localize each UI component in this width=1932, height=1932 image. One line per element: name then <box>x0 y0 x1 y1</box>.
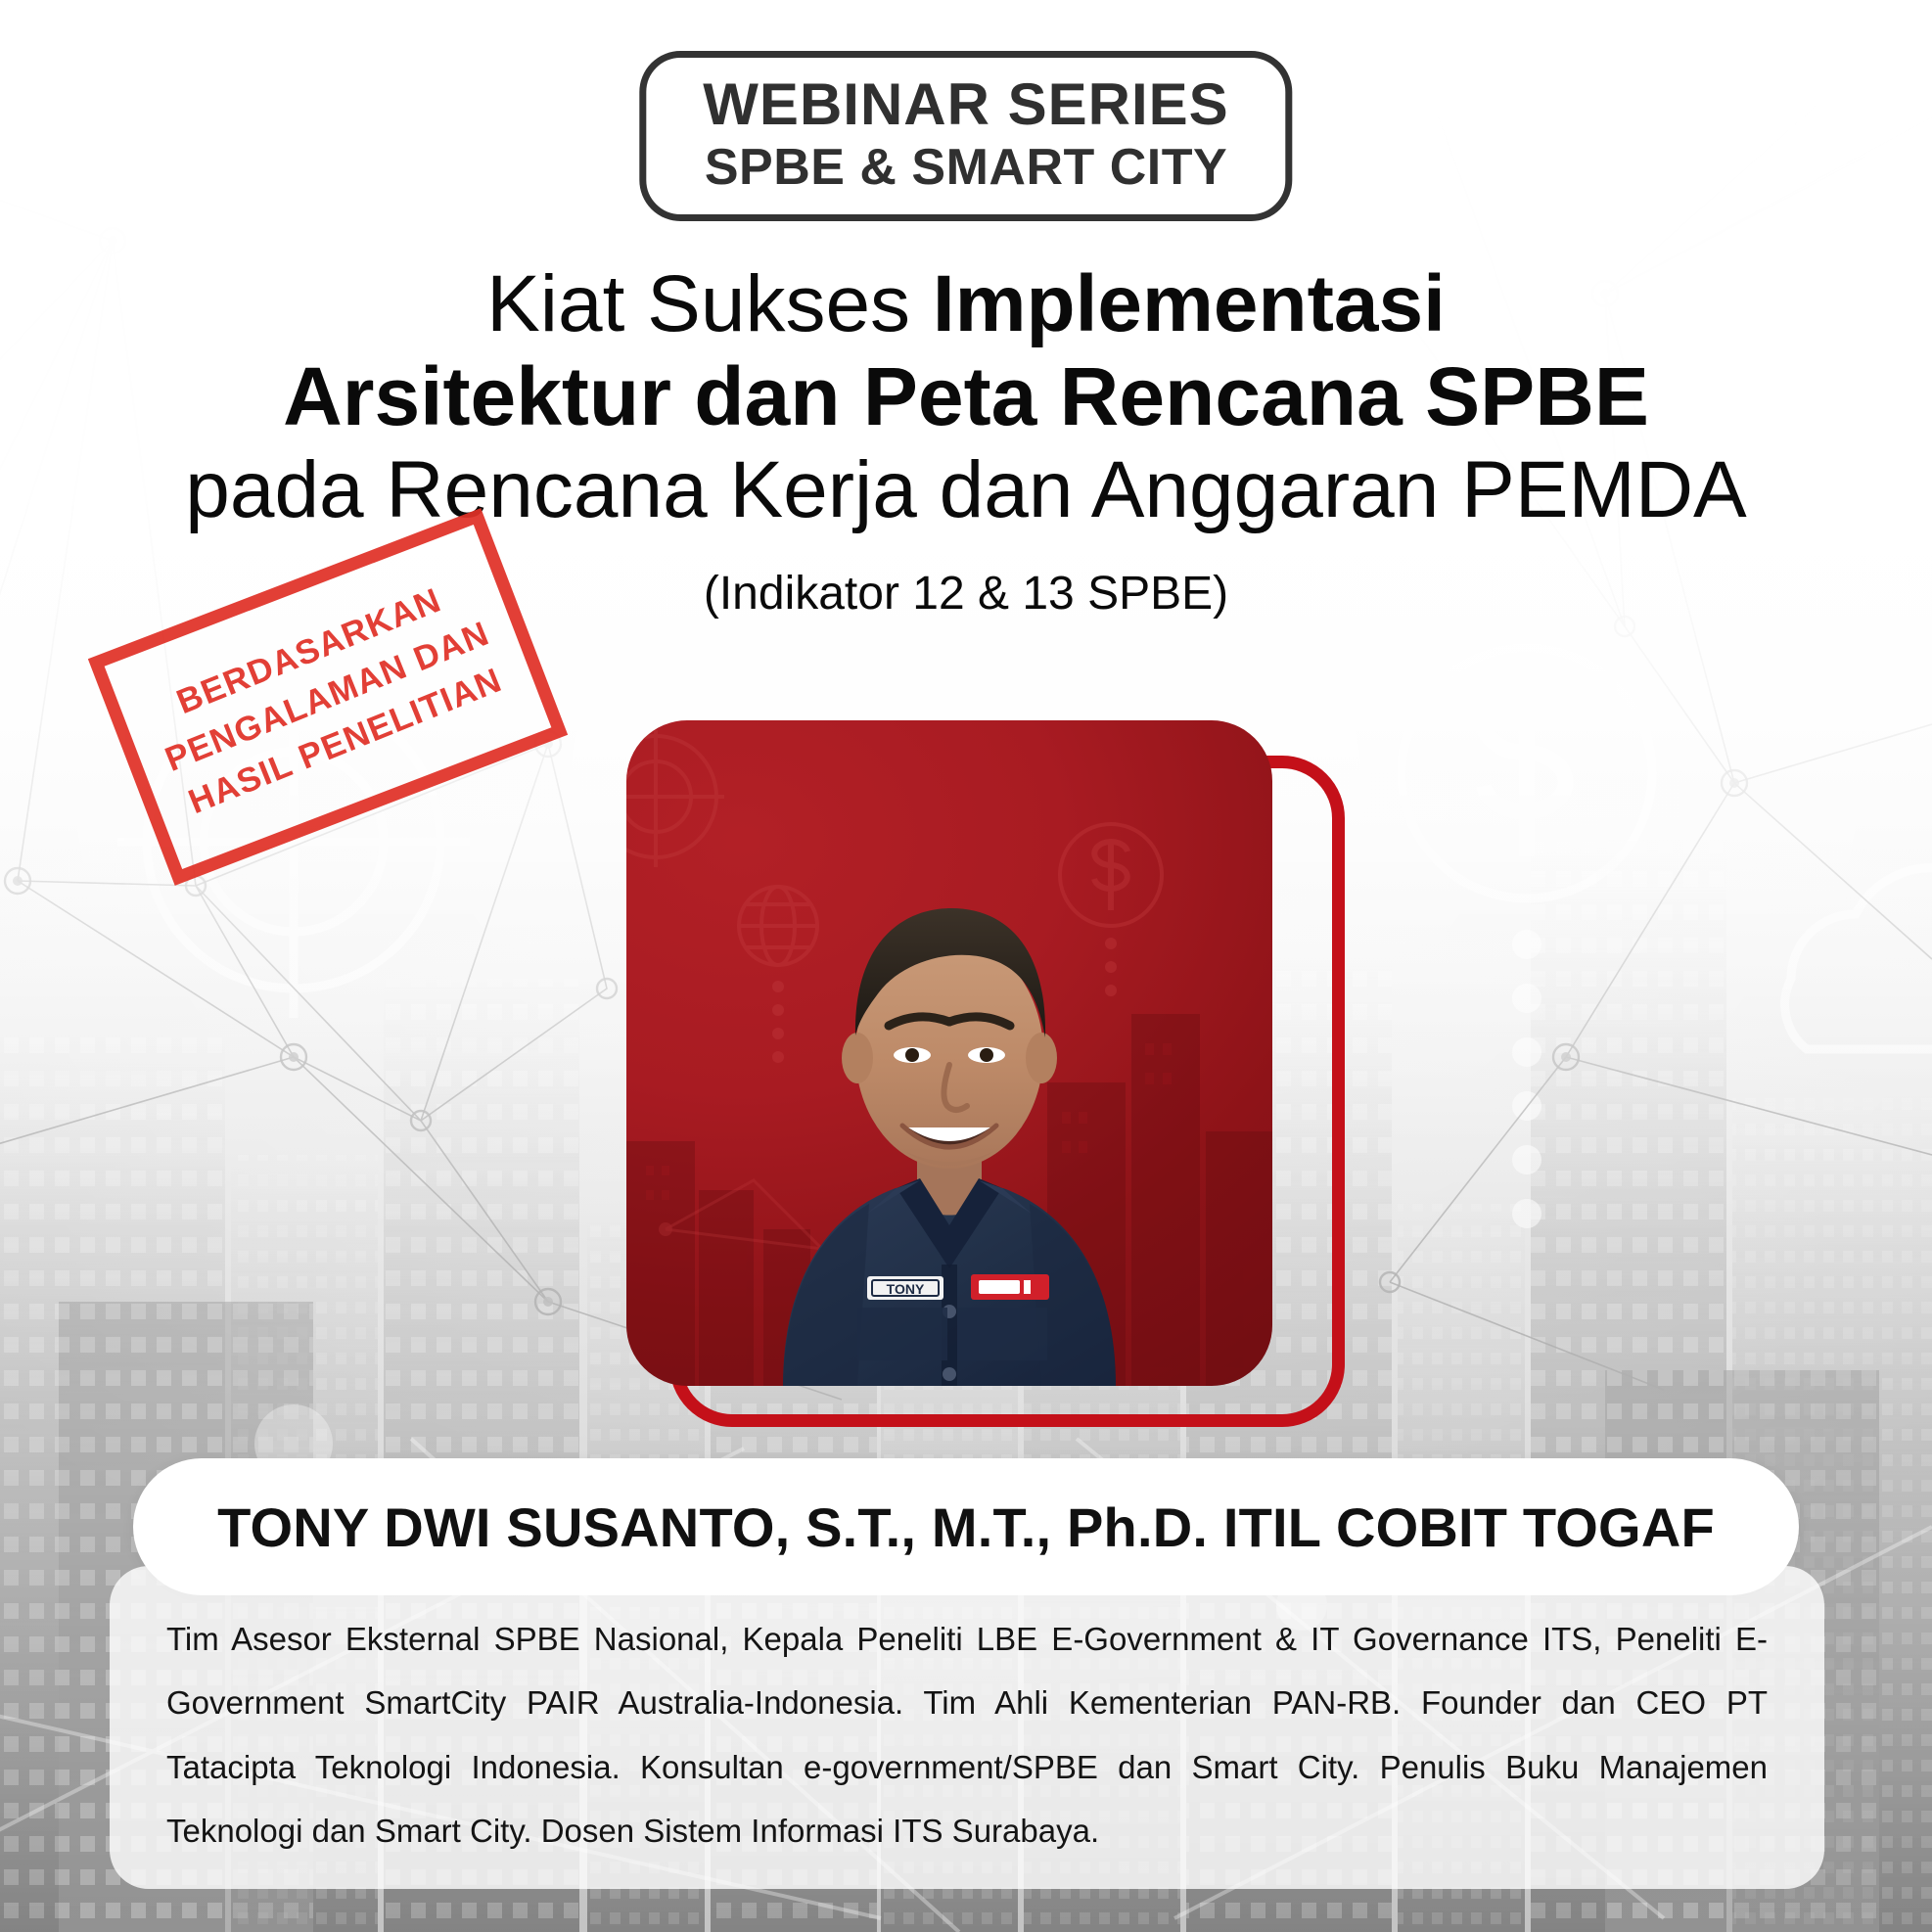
speaker-bio-text: Tim Asesor Eksternal SPBE Nasional, Kepa… <box>166 1607 1768 1863</box>
speaker-photo-block: TONY <box>626 720 1311 1396</box>
title-line-1-light: Kiat Sukses <box>486 259 933 348</box>
speaker-portrait: TONY <box>626 720 1272 1386</box>
webinar-series-badge: WEBINAR SERIES SPBE & SMART CITY <box>639 51 1292 221</box>
poster-canvas: WEBINAR SERIES SPBE & SMART CITY Kiat Su… <box>0 0 1932 1932</box>
uniform-name-tag: TONY <box>887 1281 925 1297</box>
series-title-line2: SPBE & SMART CITY <box>703 142 1228 193</box>
title-line-3: pada Rencana Kerja dan Anggaran PEMDA <box>0 448 1932 533</box>
series-title-line1: WEBINAR SERIES <box>703 75 1228 134</box>
speaker-photo-card: TONY <box>626 720 1272 1386</box>
title-line-2: Arsitektur dan Peta Rencana SPBE <box>0 353 1932 440</box>
speaker-bio-panel: Tim Asesor Eksternal SPBE Nasional, Kepa… <box>110 1566 1824 1889</box>
title-line-1-bold: Implementasi <box>933 259 1446 348</box>
title-line-1: Kiat Sukses Implementasi <box>0 262 1932 347</box>
speaker-name: TONY DWI SUSANTO, S.T., M.T., Ph.D. ITIL… <box>217 1495 1715 1559</box>
title-block: Kiat Sukses Implementasi Arsitektur dan … <box>0 262 1932 621</box>
